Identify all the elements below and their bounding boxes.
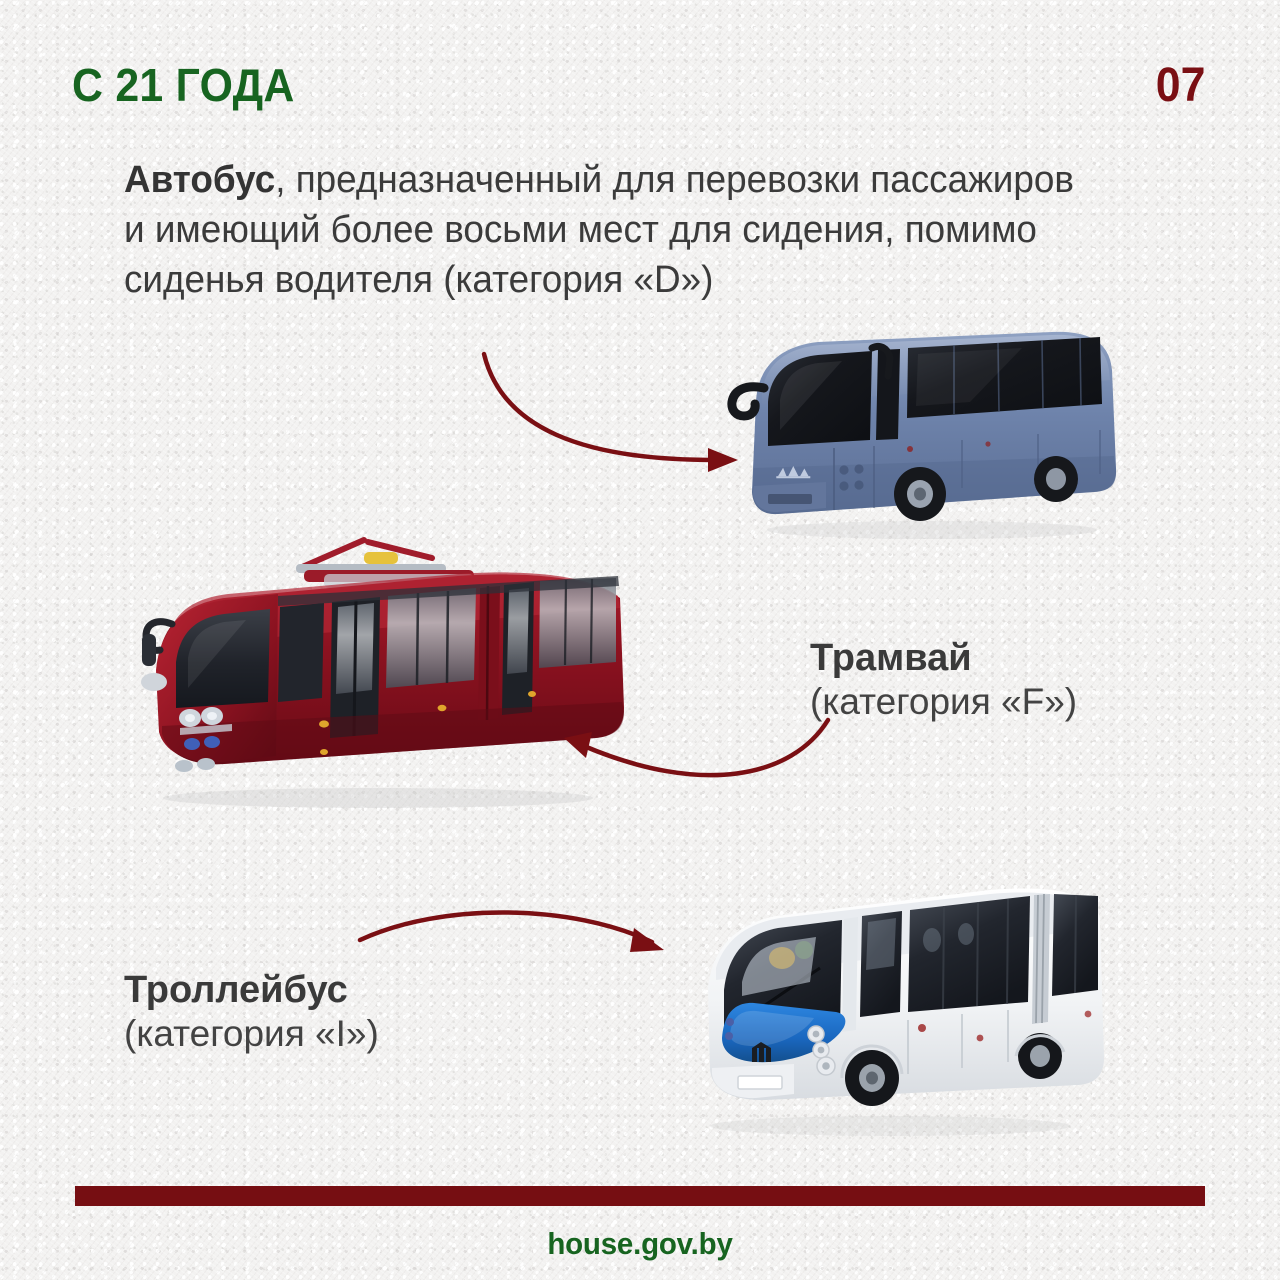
page-number: 07 [1155,62,1205,110]
trolleybus-label-name: Троллейбус [124,968,379,1012]
tram-label-name: Трамвай [810,636,1077,680]
tram-label: Трамвай (категория «F») [810,636,1077,724]
bus-image [722,318,1122,548]
footer-divider-bar [75,1186,1205,1206]
poster-canvas: С 21 ГОДА 07 Автобус, предназначенный дл… [0,0,1280,1280]
footer-website-url: house.gov.by [32,1226,1248,1262]
definition-lead-term: Автобус [124,159,275,201]
trolleybus-label: Троллейбус (категория «I») [124,968,379,1056]
trolleybus-image [690,862,1110,1147]
arrow-to-trolleybus [352,898,692,1018]
header: С 21 ГОДА 07 [72,62,1205,110]
arrow-to-tram [542,712,842,852]
tram-label-category: (категория «F») [810,680,1077,724]
trolleybus-label-category: (категория «I») [124,1012,379,1056]
definition-paragraph: Автобус, предназначенный для перевозки п… [124,155,1075,305]
arrow-to-bus [462,332,762,492]
page-title: С 21 ГОДА [72,62,295,108]
